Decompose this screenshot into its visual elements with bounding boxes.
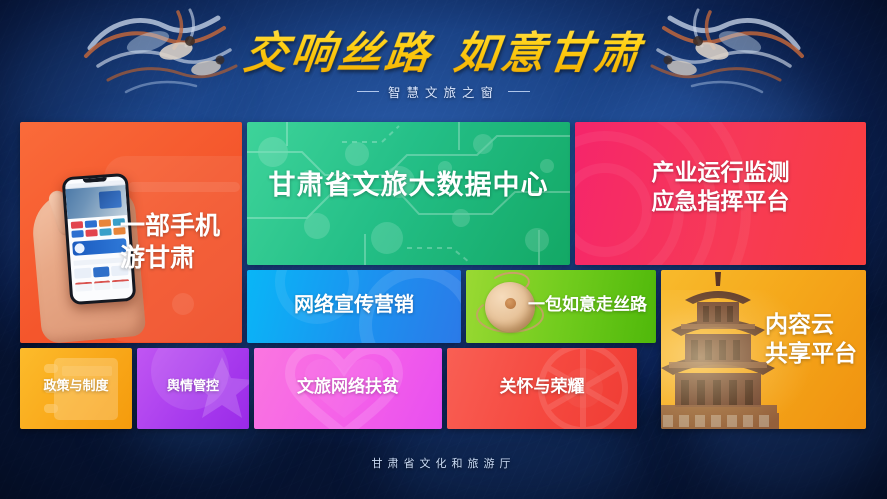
tile-label: 内容云 共享平台 <box>765 310 857 369</box>
tile-label: 一包如意走丝路 <box>528 294 647 316</box>
page-title: 交响丝路如意甘肃 <box>0 17 887 81</box>
tile-label: 舆情管控 <box>137 378 249 395</box>
tile-public-opinion-control[interactable]: 舆情管控 <box>137 348 249 429</box>
phone-outline-dot-icon <box>172 293 194 315</box>
footer-organization: 甘肃省文化和旅游厅 <box>0 455 887 471</box>
page-subtitle-wrap: 智慧文旅之窗 <box>0 82 887 101</box>
tile-culture-tourism-online-poverty-alleviation[interactable]: 文旅网络扶贫 <box>254 348 442 429</box>
tile-label: 甘肃省文旅大数据中心 <box>247 168 570 203</box>
tile-care-and-honor[interactable]: 关怀与荣耀 <box>447 348 637 429</box>
page-header: 交响丝路如意甘肃 智慧文旅之窗 <box>0 0 887 118</box>
dashboard-stage: 交响丝路如意甘肃 智慧文旅之窗 <box>0 0 887 499</box>
tile-policy-and-system[interactable]: 政策与制度 <box>20 348 132 429</box>
page-title-part1: 交响丝路 <box>241 29 435 78</box>
tile-online-promotion-marketing[interactable]: 网络宣传营销 <box>247 270 461 343</box>
tile-label: 网络宣传营销 <box>247 293 461 319</box>
page-subtitle: 智慧文旅之窗 <box>388 82 499 101</box>
tile-grid: 一部手机 游甘肃 <box>20 122 866 429</box>
tile-gansu-culture-tourism-bigdata-center[interactable]: 甘肃省文旅大数据中心 <box>247 122 570 265</box>
tile-label: 一部手机 游甘肃 <box>120 210 240 274</box>
tile-one-phone-tour-gansu[interactable]: 一部手机 游甘肃 <box>20 122 242 343</box>
tile-label: 政策与制度 <box>20 378 132 395</box>
tile-industry-monitoring-emergency-command[interactable]: 产业运行监测 应急指挥平台 <box>575 122 866 265</box>
page-title-part2: 如意甘肃 <box>451 29 645 78</box>
tile-ruyi-bag-silk-road[interactable]: 一包如意走丝路 <box>466 270 656 343</box>
subtitle-dash-left <box>357 91 379 92</box>
tile-label: 产业运行监测 应急指挥平台 <box>575 158 866 217</box>
tile-label: 关怀与荣耀 <box>447 376 637 398</box>
tile-content-cloud-sharing-platform[interactable]: 内容云 共享平台 <box>661 270 866 429</box>
tile-label: 文旅网络扶贫 <box>254 376 442 398</box>
subtitle-dash-right <box>508 91 530 92</box>
